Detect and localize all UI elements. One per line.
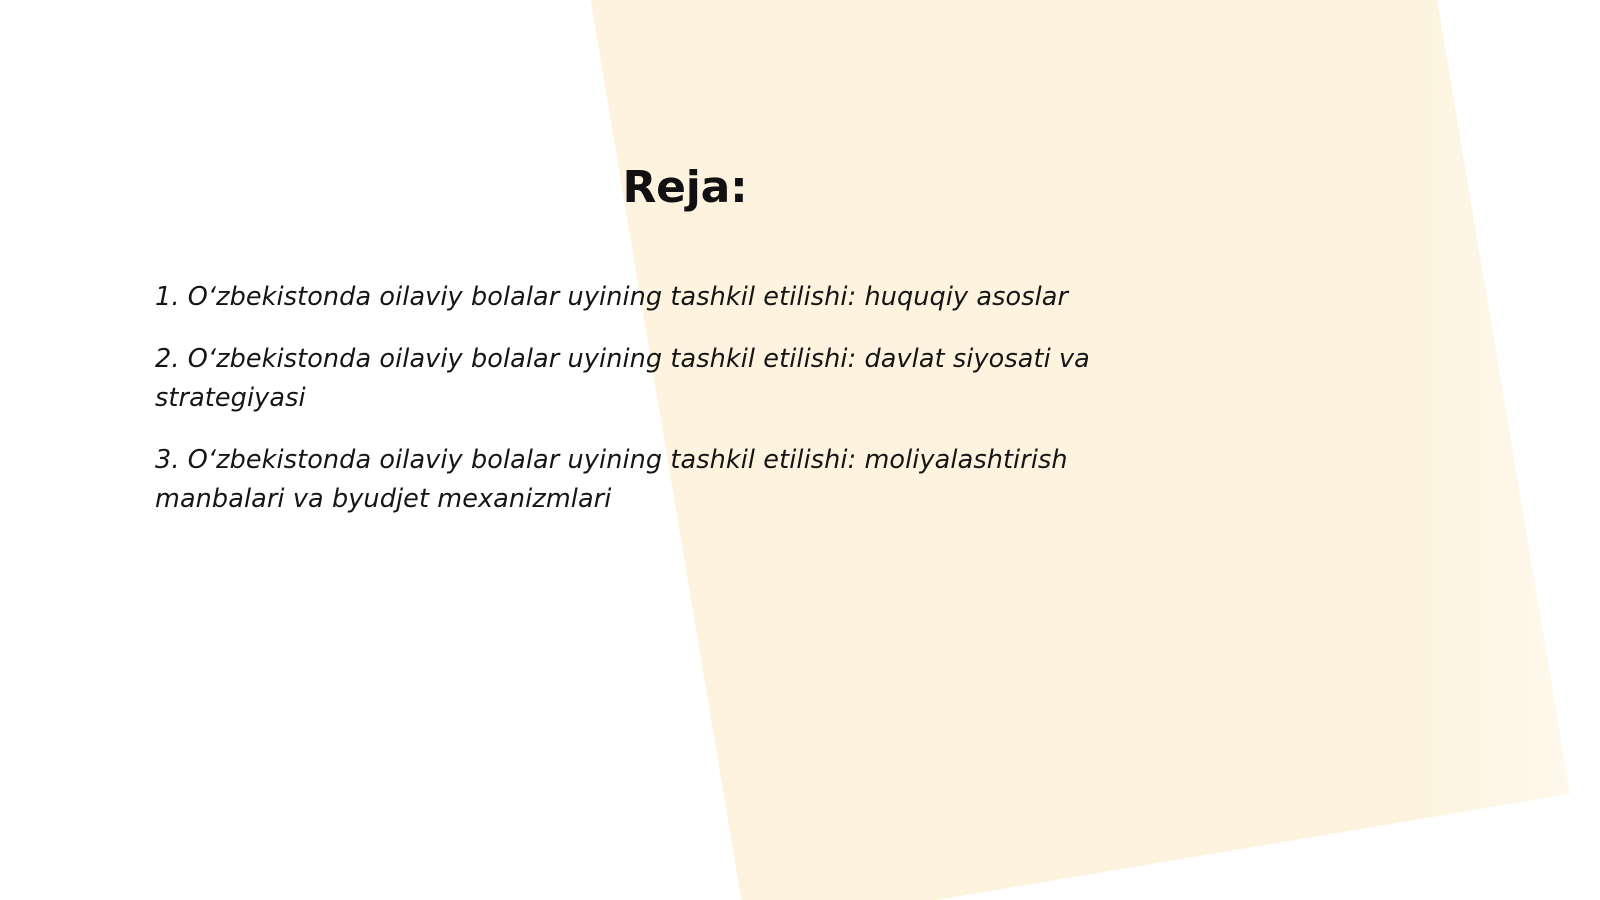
slide-title: Reja: <box>155 162 1215 214</box>
list-item: 1. Oʻzbekistonda oilaviy bolalar uyining… <box>155 278 1095 317</box>
slide-canvas: Reja: 1. Oʻzbekistonda oilaviy bolalar u… <box>0 0 1600 900</box>
slide-body-list: 1. Oʻzbekistonda oilaviy bolalar uyining… <box>155 278 1095 519</box>
list-item: 2. Oʻzbekistonda oilaviy bolalar uyining… <box>155 340 1095 418</box>
list-item: 3. Oʻzbekistonda oilaviy bolalar uyining… <box>155 441 1095 519</box>
